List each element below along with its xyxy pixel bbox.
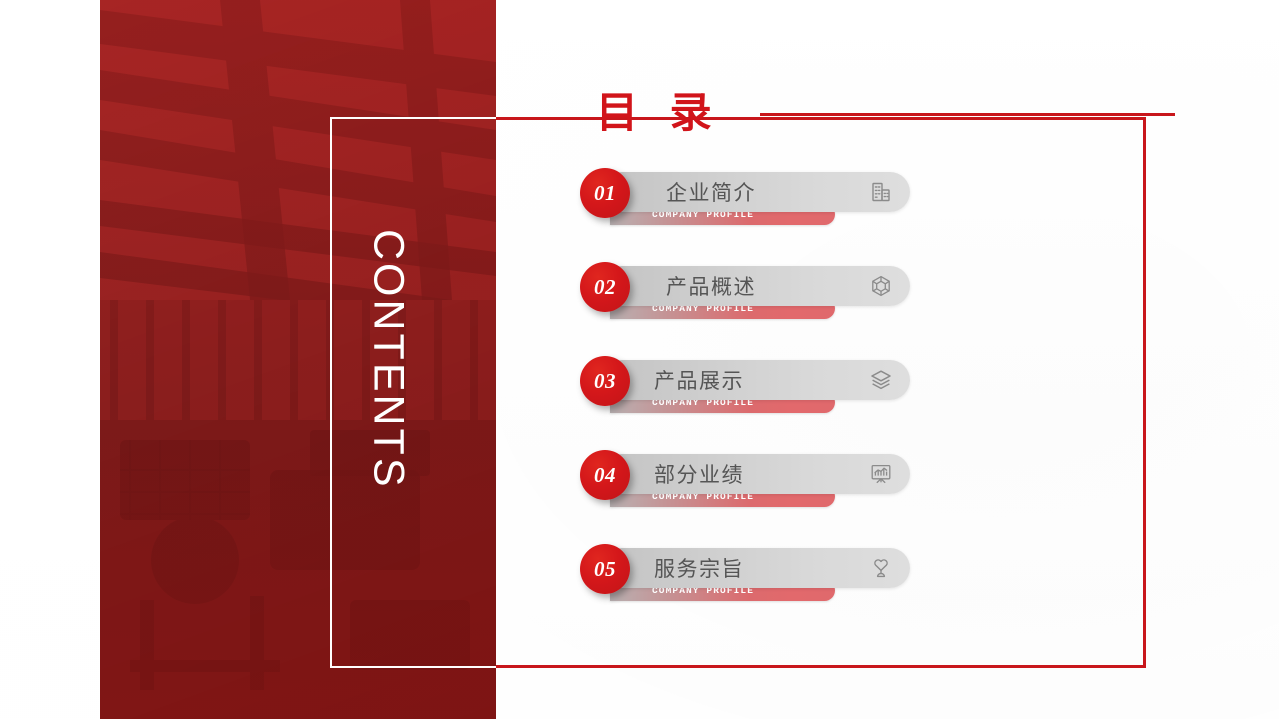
toc-item-03[interactable]: COMPANY PROFILE 产品展示 03 [580,360,910,422]
toc-item-05[interactable]: COMPANY PROFILE 服务宗旨 05 [580,548,910,610]
toc-pill[interactable]: 企业简介 [602,172,910,212]
toc-item-label: 产品展示 [654,365,744,395]
heart-award-icon [868,555,894,581]
toc-item-label: 部分业绩 [654,459,744,489]
toc-number-text: 03 [594,369,616,394]
white-outline-frame [330,117,496,668]
layers-icon [868,367,894,393]
table-of-contents-list: COMPANY PROFILE 企业简介 01 C [580,172,910,610]
toc-item-01[interactable]: COMPANY PROFILE 企业简介 01 [580,172,910,234]
toc-pill[interactable]: 产品概述 [602,266,910,306]
toc-item-label: 产品概述 [666,271,756,301]
cube-hexagon-icon [868,273,894,299]
building-icon [868,179,894,205]
toc-item-04[interactable]: COMPANY PROFILE 部分业绩 04 [580,454,910,516]
page-title-row: 目 录 [596,92,1175,134]
toc-number-text: 04 [594,463,616,488]
title-divider-rule [760,113,1175,116]
toc-number-text: 02 [594,275,616,300]
toc-pill[interactable]: 部分业绩 [602,454,910,494]
toc-item-label: 企业简介 [666,177,756,207]
page-title: 目 录 [596,92,722,134]
left-image-panel: CONTENTS [100,0,496,719]
toc-item-02[interactable]: COMPANY PROFILE 产品概述 02 [580,266,910,328]
toc-number-badge: 03 [580,356,630,406]
chart-presentation-icon [868,461,894,487]
toc-number-text: 05 [594,557,616,582]
toc-pill[interactable]: 产品展示 [602,360,910,400]
toc-item-label: 服务宗旨 [654,553,744,583]
toc-pill[interactable]: 服务宗旨 [602,548,910,588]
toc-number-text: 01 [594,181,616,206]
toc-number-badge: 04 [580,450,630,500]
toc-number-badge: 05 [580,544,630,594]
toc-number-badge: 02 [580,262,630,312]
slide-canvas: CONTENTS 目 录 COMPANY PROFILE 企业简介 [0,0,1279,719]
toc-number-badge: 01 [580,168,630,218]
